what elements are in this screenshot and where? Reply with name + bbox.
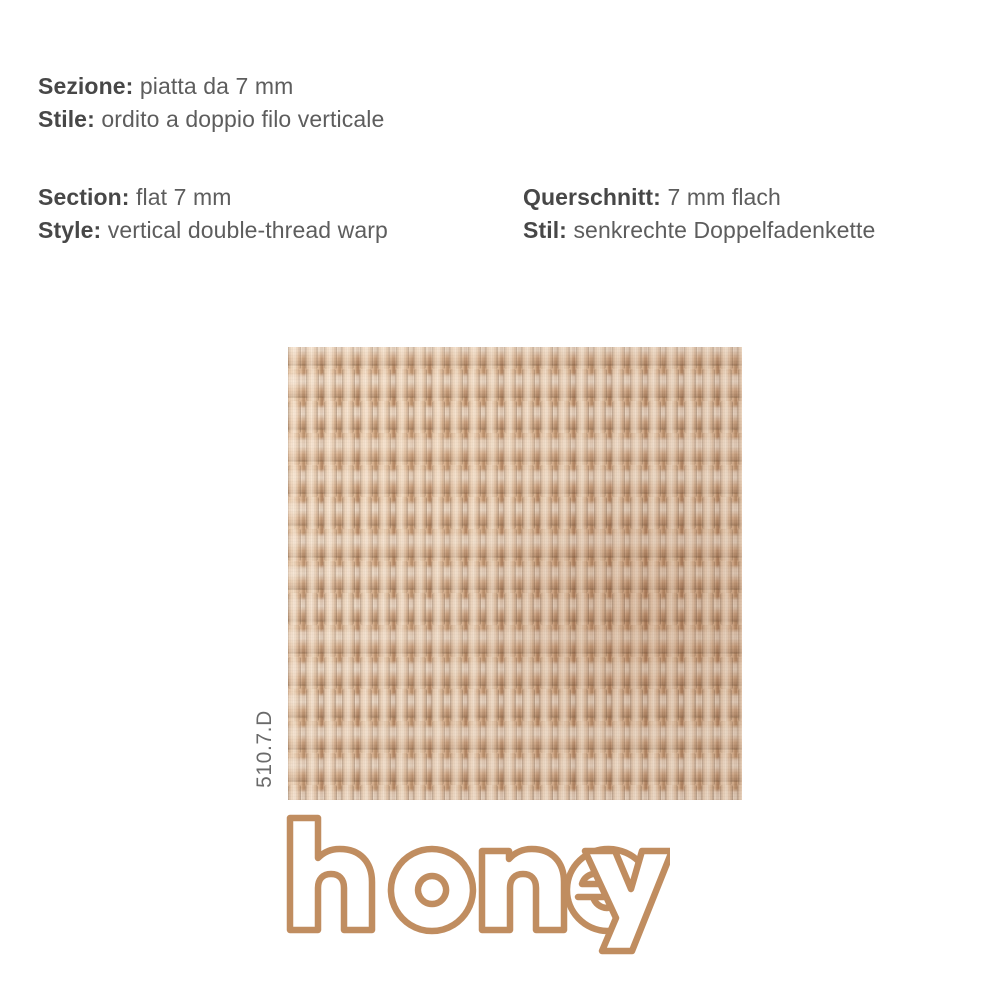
spec-line-section: Section: flat 7 mm	[38, 181, 388, 214]
spec-value-style: vertical double-thread warp	[108, 217, 388, 243]
spec-label-style: Style:	[38, 217, 101, 243]
spec-value-stil: senkrechte Doppelfadenkette	[573, 217, 875, 243]
spec-label-stil: Stil:	[523, 217, 567, 243]
spec-block-italian: Sezione: piatta da 7 mm Stile: ordito a …	[38, 70, 384, 135]
spec-value-section: flat 7 mm	[136, 184, 231, 210]
spec-label-stile: Stile:	[38, 106, 95, 132]
spec-label-sezione: Sezione:	[38, 73, 133, 99]
spec-line-style: Style: vertical double-thread warp	[38, 214, 388, 247]
spec-line-stile: Stile: ordito a doppio filo verticale	[38, 103, 384, 136]
spec-value-querschnitt: 7 mm flach	[667, 184, 780, 210]
weave-swatch	[288, 347, 742, 800]
weave-grain-layer	[288, 347, 742, 800]
swatch-code-text: 510.7.D	[253, 710, 277, 788]
spec-line-stil: Stil: senkrechte Doppelfadenkette	[523, 214, 875, 247]
spec-block-english: Section: flat 7 mm Style: vertical doubl…	[38, 181, 388, 246]
spec-value-stile: ordito a doppio filo verticale	[101, 106, 384, 132]
spec-block-german: Querschnitt: 7 mm flach Stil: senkrechte…	[523, 181, 875, 246]
spec-line-querschnitt: Querschnitt: 7 mm flach	[523, 181, 875, 214]
weave-texture	[288, 347, 742, 800]
spec-line-sezione: Sezione: piatta da 7 mm	[38, 70, 384, 103]
spec-label-section: Section:	[38, 184, 130, 210]
honey-wordmark	[282, 812, 670, 957]
spec-value-sezione: piatta da 7 mm	[140, 73, 294, 99]
swatch-code-label: 510.7.D	[252, 693, 278, 805]
spec-label-querschnitt: Querschnitt:	[523, 184, 661, 210]
